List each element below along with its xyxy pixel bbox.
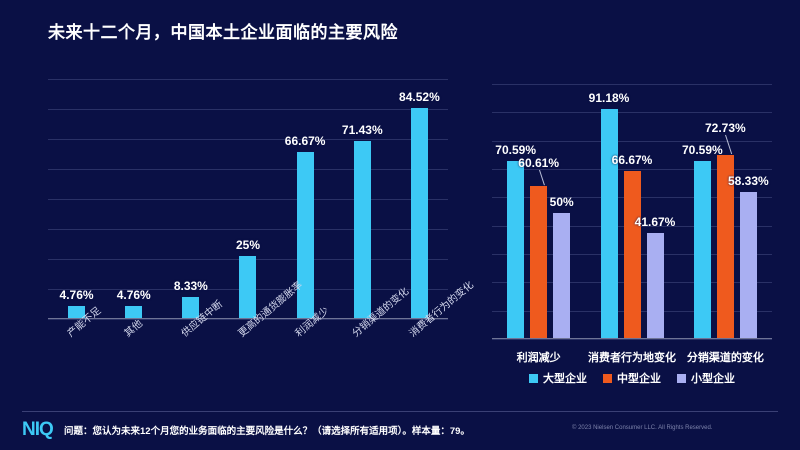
bar-value-label: 66.67% xyxy=(285,134,326,148)
x-axis-group-label: 分销渠道的变化 xyxy=(687,349,764,365)
slide-canvas: 未来十二个月，中国本土企业面临的主要风险 4.76%4.76%8.33%25%6… xyxy=(0,0,800,450)
chart-risks-by-size: 70.59%60.61%50%利润减少91.18%66.67%41.67%消费者… xyxy=(492,85,772,340)
grid-line xyxy=(492,112,772,113)
chart-overall-risks: 4.76%4.76%8.33%25%66.67%71.43%84.52% 产能不… xyxy=(48,80,448,320)
label-leader-line xyxy=(539,170,545,186)
bar-value-label: 66.67% xyxy=(612,153,653,167)
bar-value-label: 58.33% xyxy=(728,174,769,188)
bar-slot: 66.67% xyxy=(277,80,334,318)
legend-item-small[interactable]: 小型企业 xyxy=(677,370,735,386)
bar-大型企业-分销渠道的变化[interactable]: 71.43% xyxy=(354,141,371,318)
legend-swatch-icon xyxy=(677,374,686,383)
bar-小型企业-分销渠道的变化[interactable]: 58.33% xyxy=(740,192,757,338)
plot-area-right: 70.59%60.61%50%利润减少91.18%66.67%41.67%消费者… xyxy=(492,85,772,340)
bar-大型企业-分销渠道的变化[interactable]: 70.59% xyxy=(694,161,711,338)
bar-大型企业-消费者行为地变化[interactable]: 91.18% xyxy=(601,109,618,338)
page-title: 未来十二个月，中国本土企业面临的主要风险 xyxy=(48,18,398,43)
legend-item-large[interactable]: 大型企业 xyxy=(529,370,587,386)
bar-中型企业-利润减少[interactable]: 60.61% xyxy=(530,186,547,338)
legend-label: 小型企业 xyxy=(691,370,735,386)
bar-value-label: 91.18% xyxy=(589,91,630,105)
bar-value-label: 84.52% xyxy=(399,90,440,104)
grid-line xyxy=(492,141,772,142)
bar-slot: 84.52% xyxy=(391,80,448,318)
bar-大型企业-更高的通货膨胀率[interactable]: 25% xyxy=(239,256,256,318)
legend-label: 大型企业 xyxy=(543,370,587,386)
chart-legend: 大型企业中型企业小型企业 xyxy=(492,370,772,386)
footer-bar: NIQ 问题：您认为未来12个月您的业务面临的主要风险是什么？（请选择所有适用项… xyxy=(0,412,800,450)
bar-value-label: 70.59% xyxy=(495,143,536,157)
footer-copyright: © 2023 Nielsen Consumer LLC. All Rights … xyxy=(572,425,713,431)
bar-大型企业-利润减少[interactable]: 66.67% xyxy=(297,152,314,318)
bar-slot: 71.43% xyxy=(334,80,391,318)
bar-value-label: 41.67% xyxy=(635,215,676,229)
legend-swatch-icon xyxy=(529,374,538,383)
bar-小型企业-利润减少[interactable]: 50% xyxy=(553,213,570,339)
bar-value-label: 60.61% xyxy=(518,156,559,170)
bar-大型企业-消费者行为的变化[interactable]: 84.52% xyxy=(411,108,428,318)
bar-slot: 4.76% xyxy=(105,80,162,318)
label-leader-line xyxy=(725,135,732,154)
legend-item-mid[interactable]: 中型企业 xyxy=(603,370,661,386)
bar-value-label: 8.33% xyxy=(174,279,208,293)
bar-大型企业-利润减少[interactable]: 70.59% xyxy=(507,161,524,338)
legend-swatch-icon xyxy=(603,374,612,383)
x-axis-group-label: 消费者行为地变化 xyxy=(588,349,676,365)
bar-value-label: 71.43% xyxy=(342,123,383,137)
bar-slot: 25% xyxy=(219,80,276,318)
bar-slot: 4.76% xyxy=(48,80,105,318)
legend-label: 中型企业 xyxy=(617,370,661,386)
footer-question: 问题：您认为未来12个月您的业务面临的主要风险是什么？（请选择所有适用项）。样本… xyxy=(64,423,470,437)
bar-value-label: 4.76% xyxy=(117,288,151,302)
grid-line xyxy=(492,339,772,340)
bar-value-label: 72.73% xyxy=(705,121,746,135)
plot-area-left: 4.76%4.76%8.33%25%66.67%71.43%84.52% xyxy=(48,80,448,320)
bar-value-label: 50% xyxy=(550,195,574,209)
bar-slot: 8.33% xyxy=(162,80,219,318)
niq-logo: NIQ xyxy=(22,420,53,439)
bar-value-label: 4.76% xyxy=(60,288,94,302)
x-axis-group-label: 利润减少 xyxy=(517,349,561,365)
grid-line xyxy=(492,84,772,85)
bar-中型企业-消费者行为地变化[interactable]: 66.67% xyxy=(624,171,641,338)
bar-value-label: 25% xyxy=(236,238,260,252)
bar-小型企业-消费者行为地变化[interactable]: 41.67% xyxy=(647,233,664,338)
